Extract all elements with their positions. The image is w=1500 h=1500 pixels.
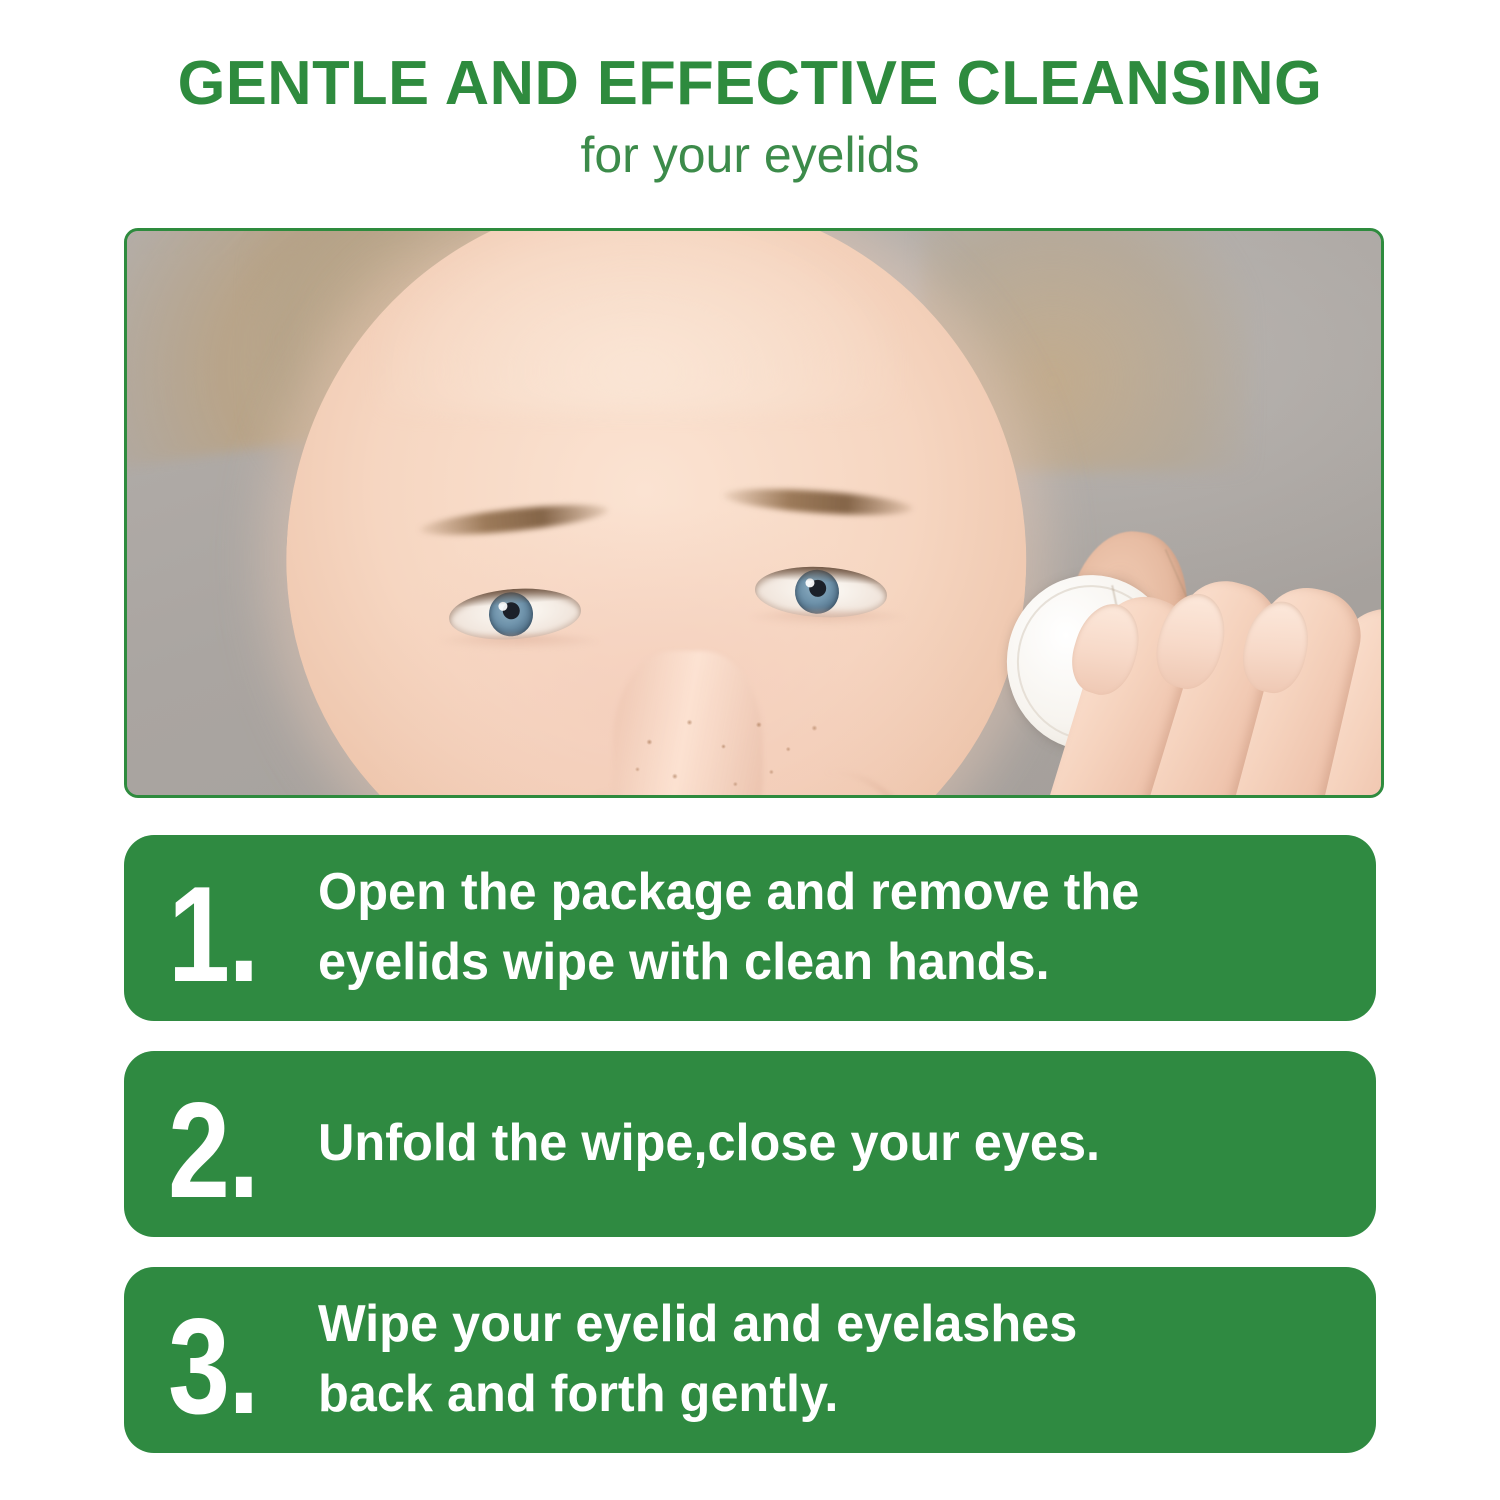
header: GENTLE AND EFFECTIVE CLEANSING for your … (0, 52, 1500, 182)
step-card-1: 1. Open the package and remove the eyeli… (124, 835, 1376, 1021)
step-text-2: Unfold the wipe,close your eyes. (318, 1109, 1319, 1179)
step-text-1: Open the package and remove the eyelids … (318, 858, 1319, 997)
step-number-1: 1. (168, 866, 291, 1002)
step-card-3: 3. Wipe your eyelid and eyelashes back a… (124, 1267, 1376, 1453)
lower-eyelid-left (437, 635, 602, 649)
step-number-3: 3. (168, 1298, 291, 1434)
hero-image-frame (124, 228, 1384, 798)
page-subtitle: for your eyelids (0, 129, 1500, 182)
hand (1047, 591, 1381, 795)
forehead-highlight (377, 231, 897, 411)
step-text-3: Wipe your eyelid and eyelashes back and … (318, 1290, 1319, 1429)
page-title: GENTLE AND EFFECTIVE CLEANSING (8, 52, 1493, 115)
step-number-2: 2. (168, 1082, 291, 1218)
infographic-page: GENTLE AND EFFECTIVE CLEANSING for your … (0, 0, 1500, 1500)
hero-photo (127, 231, 1381, 795)
step-card-2: 2. Unfold the wipe,close your eyes. (124, 1051, 1376, 1237)
lower-eyelid-right (747, 611, 907, 625)
instruction-steps: 1. Open the package and remove the eyeli… (124, 835, 1376, 1453)
